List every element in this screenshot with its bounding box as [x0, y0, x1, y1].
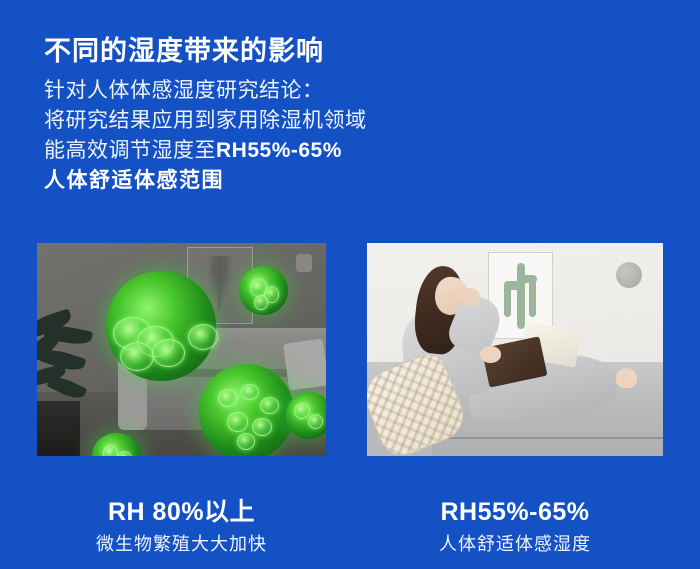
caption-comfort-humidity: RH55%-65% 人体舒适体感湿度: [367, 498, 663, 555]
caption-subtitle: 人体舒适体感湿度: [367, 534, 663, 556]
body-copy: 针对人体体感湿度研究结论： 将研究结果应用到家用除湿机领域 能高效调节湿度至RH…: [44, 76, 367, 196]
caption-title: RH 80%以上: [37, 498, 326, 527]
photo-panel-high-humidity: [37, 243, 326, 456]
scene-woman-reading: [367, 243, 663, 456]
photo-panel-comfort-humidity: [367, 243, 663, 456]
body-line-4: 人体舒适体感范围: [44, 166, 367, 196]
hand-holding-book: [480, 346, 501, 362]
sofa-cushion: [282, 338, 326, 390]
microbe-cluster-bottom: [199, 364, 294, 456]
page-title: 不同的湿度带来的影响: [44, 35, 324, 67]
wall-switch-icon: [296, 254, 312, 272]
caption-title: RH55%-65%: [367, 498, 663, 527]
humidity-infographic: 不同的湿度带来的影响 针对人体体感湿度研究结论： 将研究结果应用到家用除湿机领域…: [0, 0, 700, 569]
foot: [616, 368, 637, 388]
caption-high-humidity: RH 80%以上 微生物繁殖大大加快: [37, 498, 326, 555]
body-line-3: 能高效调节湿度至RH55%-65%: [44, 136, 367, 166]
hand-at-forehead: [461, 288, 480, 306]
microbe-cluster-large: [106, 271, 216, 382]
body-line-1: 针对人体体感湿度研究结论：: [44, 76, 367, 106]
microbe-floor-right: [286, 392, 326, 439]
caption-subtitle: 微生物繁殖大大加快: [37, 534, 326, 556]
body-line-3-prefix: 能高效调节湿度至: [44, 139, 216, 162]
body-line-3-emphasis: RH55%-65%: [216, 139, 342, 162]
house-plant: [37, 313, 101, 411]
body-line-2: 将研究结果应用到家用除湿机领域: [44, 106, 367, 136]
scene-dark-room-microbes: [37, 243, 326, 456]
